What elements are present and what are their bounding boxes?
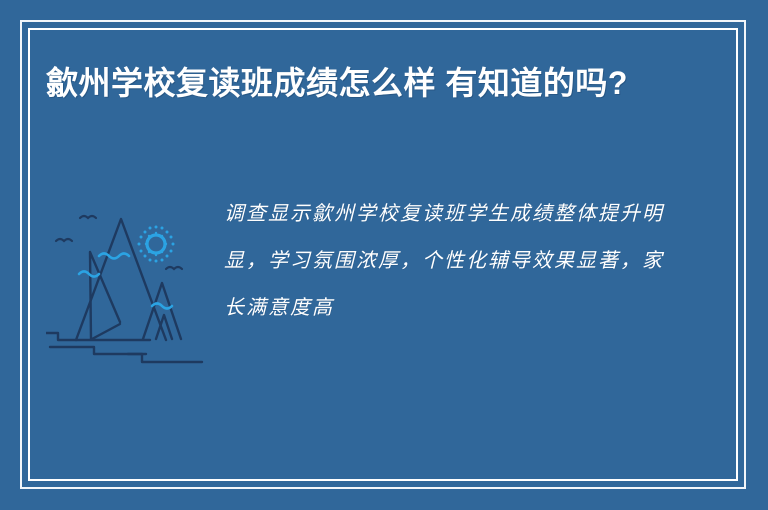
body-text: 调查显示歙州学校复读班学生成绩整体提升明显，学习氛围浓厚，个性化辅导效果显著，家…	[224, 190, 672, 331]
bird-icon-1	[80, 216, 96, 218]
snow-line-big	[99, 254, 129, 259]
bird-icon-2	[56, 239, 72, 241]
left-peak-base	[92, 324, 120, 339]
page-title: 歙州学校复读班成绩怎么样 有知道的吗?	[46, 57, 646, 110]
bird-icon-3	[166, 267, 182, 269]
ground-line-3	[128, 354, 202, 362]
mountain-landscape-illustration	[46, 196, 206, 371]
poster-card: 歙州学校复读班成绩怎么样 有知道的吗?	[0, 0, 768, 510]
snow-line-left	[79, 272, 99, 277]
content-row: 调查显示歙州学校复读班学生成绩整体提升明显，学习氛围浓厚，个性化辅导效果显著，家…	[46, 190, 708, 371]
sun-icon	[138, 226, 175, 263]
